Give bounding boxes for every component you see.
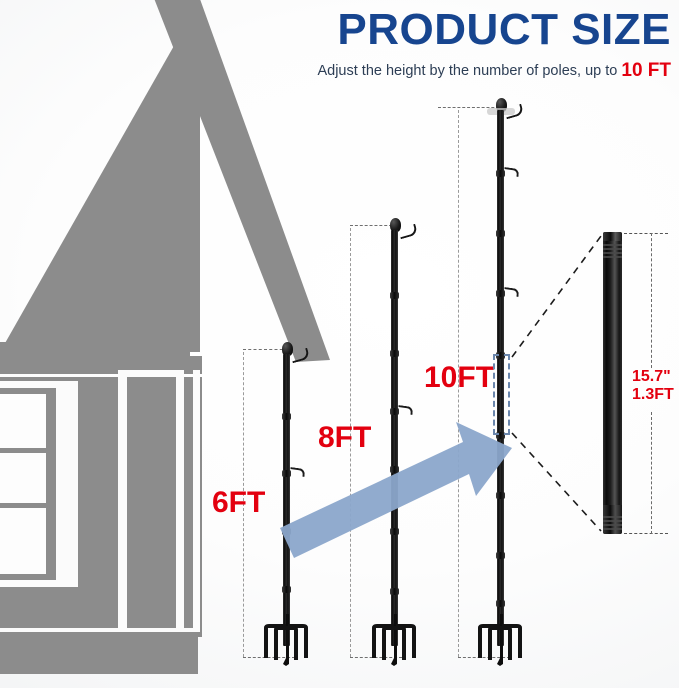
infographic-canvas: PRODUCT SIZE Adjust the height by the nu… xyxy=(0,0,679,688)
pole-joint xyxy=(282,528,291,535)
thread-line xyxy=(603,516,622,518)
pole-joint xyxy=(390,528,399,535)
label-6ft: 6FT xyxy=(212,488,265,518)
house-window-mullion-2 xyxy=(0,503,46,508)
detail-pole-top-cap xyxy=(603,232,622,241)
pole-joint xyxy=(390,588,399,595)
subtitle-highlight: 10 FT xyxy=(621,60,671,81)
thread-line xyxy=(603,248,622,250)
house-pillar-cap-inner xyxy=(123,377,179,386)
pole-joint xyxy=(282,586,291,593)
pole-joint xyxy=(390,350,399,357)
detail-dimension-tick-top xyxy=(624,233,668,234)
page-title: PRODUCT SIZE xyxy=(0,8,671,52)
detail-size-inches: 15.7" xyxy=(632,368,674,386)
label-10ft: 10FT xyxy=(424,363,494,393)
detail-dimension-tick-bottom xyxy=(624,533,668,534)
detail-dimension-line-upper xyxy=(651,233,652,368)
callout-highlight-box xyxy=(493,354,510,435)
pole-joint xyxy=(390,466,399,473)
house-pillar-left-edge xyxy=(118,374,127,632)
pole-joint xyxy=(496,492,505,499)
page-subtitle: Adjust the height by the number of poles… xyxy=(0,61,671,80)
house-gable-body xyxy=(0,342,190,356)
pole-joint xyxy=(496,600,505,607)
detail-size-feet: 1.3FT xyxy=(632,386,674,404)
thread-line xyxy=(603,252,622,254)
flag-hook-icon xyxy=(290,467,306,477)
pole-joint xyxy=(282,413,291,420)
thread-line xyxy=(603,256,622,258)
pole-shaft-6ft xyxy=(283,354,290,646)
detail-pole-shaft xyxy=(603,232,622,534)
house-pillar-right-edge xyxy=(176,374,184,632)
pole-joint xyxy=(496,552,505,559)
ground-stake-icon xyxy=(470,614,530,662)
pole-joint xyxy=(390,292,399,299)
ground-stake-icon xyxy=(364,614,424,662)
thread-line xyxy=(603,524,622,526)
thread-line xyxy=(603,528,622,530)
thread-line xyxy=(603,244,622,246)
detail-dimension-line-lower xyxy=(651,412,652,534)
house-window-glass xyxy=(0,394,46,574)
detail-size-label: 15.7" 1.3FT xyxy=(632,368,674,404)
thread-line xyxy=(603,520,622,522)
header: PRODUCT SIZE Adjust the height by the nu… xyxy=(0,0,679,80)
label-8ft: 8FT xyxy=(318,423,371,453)
flag-hook-icon xyxy=(398,405,414,415)
subtitle-text: Adjust the height by the number of poles… xyxy=(317,63,621,79)
ground-stake-icon xyxy=(256,614,316,662)
pole-joint xyxy=(496,230,505,237)
house-base-band xyxy=(0,632,198,674)
house-window-mullion-1 xyxy=(0,448,46,453)
house-wall-corner-edge xyxy=(193,370,200,632)
